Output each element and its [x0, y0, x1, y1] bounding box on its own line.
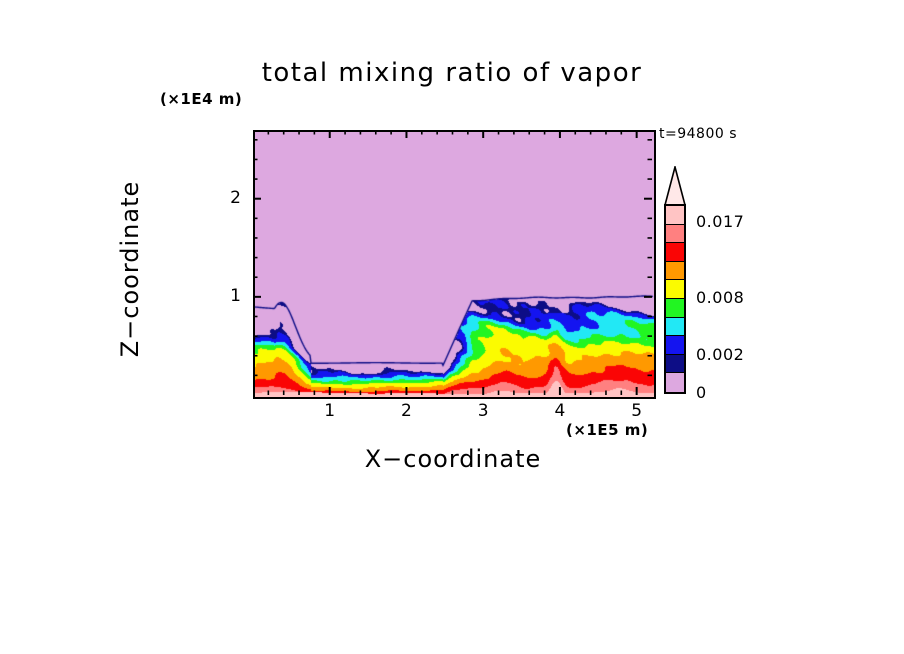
x-axis-units: (×1E5 m) — [566, 421, 648, 439]
colorbar-band — [666, 355, 684, 374]
colorbar-tick-label: 0.017 — [696, 212, 744, 231]
colorbar-band — [666, 318, 684, 337]
colorbar-band — [666, 225, 684, 244]
figure-title: total mixing ratio of vapor — [0, 58, 904, 88]
y-tick-label: 2 — [201, 188, 241, 208]
colorbar-tick-label: 0.008 — [696, 288, 744, 307]
colorbar-bands — [664, 204, 686, 394]
y-axis-units: (×1E4 m) — [160, 90, 242, 108]
colorbar-tick-label: 0 — [696, 383, 707, 402]
colorbar-band — [666, 280, 684, 299]
x-tick-label: 3 — [463, 401, 503, 421]
x-tick-label: 4 — [540, 401, 580, 421]
time-annotation: t=94800 s — [659, 126, 737, 142]
contour-field — [255, 132, 654, 397]
y-tick-label: 1 — [201, 286, 241, 306]
colorbar-band — [666, 299, 684, 318]
y-axis-label: Z−coordinate — [116, 129, 144, 409]
x-tick-label: 5 — [617, 401, 657, 421]
x-tick-label: 2 — [386, 401, 426, 421]
colorbar-tick-label: 0.002 — [696, 345, 744, 364]
colorbar-band — [666, 262, 684, 281]
plot-area — [253, 130, 656, 399]
figure-canvas: total mixing ratio of vapor (×1E4 m) (×1… — [0, 0, 904, 654]
colorbar-arrow-icon — [664, 166, 686, 206]
x-tick-label: 1 — [310, 401, 350, 421]
x-axis-label: X−coordinate — [253, 445, 653, 473]
colorbar: 0.0170.0080.0020 — [664, 166, 686, 394]
colorbar-band — [666, 373, 684, 392]
colorbar-band — [666, 243, 684, 262]
colorbar-band — [666, 336, 684, 355]
colorbar-band — [666, 206, 684, 225]
